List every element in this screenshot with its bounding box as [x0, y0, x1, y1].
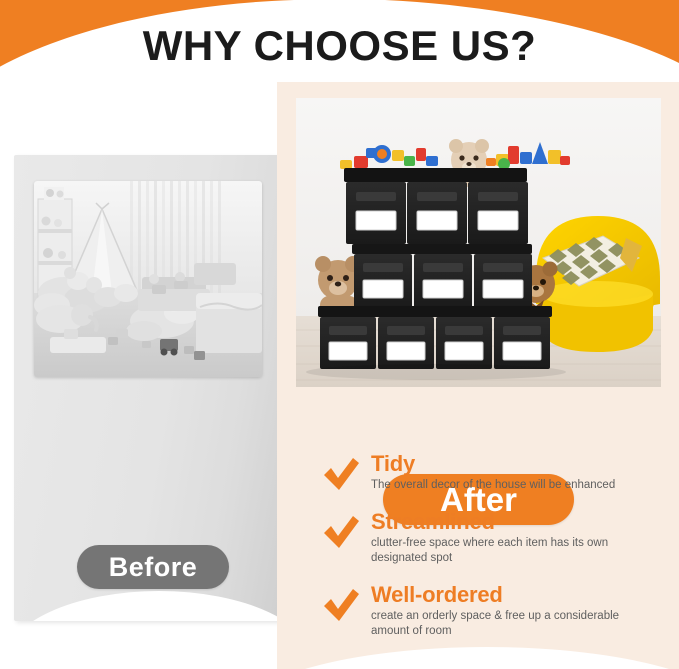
pro-texts: Streamlined clutter-free space where eac…	[371, 510, 641, 566]
pro-desc: The overall decor of the house will be e…	[371, 478, 615, 493]
after-pro-list: Tidy The overall decor of the house will…	[323, 452, 663, 656]
con-label: Messy	[96, 618, 154, 621]
before-con-list: Messy Disorganized All over the place	[58, 607, 282, 621]
pro-desc: clutter-free space where each item has i…	[371, 536, 641, 566]
pro-texts: Tidy The overall decor of the house will…	[371, 452, 615, 493]
x-mark-icon	[58, 617, 84, 622]
check-mark-icon	[323, 516, 360, 549]
pro-texts: Well-ordered create an orderly space & f…	[371, 583, 641, 639]
before-panel: Before Messy Disorganized All over	[14, 155, 282, 621]
check-mark-icon	[323, 589, 360, 622]
after-photo	[296, 98, 661, 387]
pro-title: Well-ordered	[371, 583, 641, 606]
before-photo	[34, 181, 262, 377]
page-title: WHY CHOOSE US?	[0, 22, 679, 70]
check-mark-icon	[323, 458, 360, 491]
pro-desc: create an orderly space & free up a cons…	[371, 609, 641, 639]
list-item: Messy	[58, 607, 282, 621]
before-badge-label: Before	[109, 552, 198, 583]
pro-title: Tidy	[371, 452, 615, 475]
why-choose-us-infographic: WHY CHOOSE US?	[0, 0, 679, 669]
list-item: Streamlined clutter-free space where eac…	[323, 510, 663, 566]
pro-title: Streamlined	[371, 510, 641, 533]
list-item: Well-ordered create an orderly space & f…	[323, 583, 663, 639]
list-item: Tidy The overall decor of the house will…	[323, 452, 663, 493]
status-badge-before: Before	[77, 545, 229, 589]
